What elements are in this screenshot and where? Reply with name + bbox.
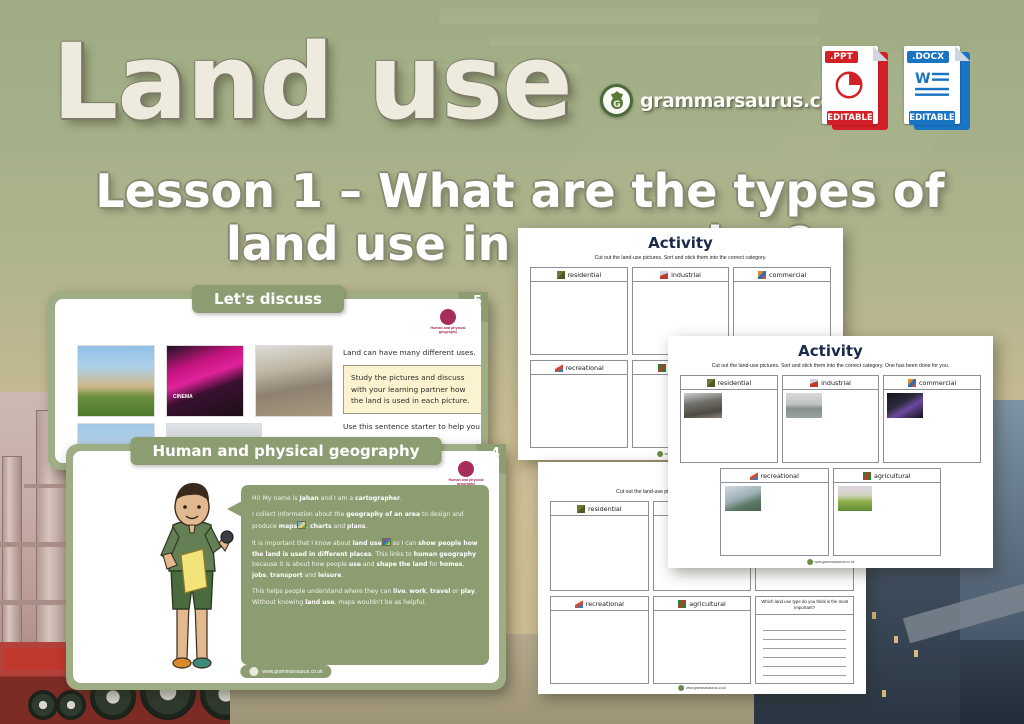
grammarsaurus-dino-icon (249, 667, 258, 676)
industrial-aerial-photo (255, 345, 333, 417)
recreational-icon (555, 364, 563, 372)
commercial-icon (908, 379, 916, 387)
residential-icon (707, 379, 715, 387)
category-box-residential[interactable]: residential (680, 375, 778, 463)
category-label: agricultural (689, 600, 726, 608)
category-box-recreational[interactable]: recreational (530, 360, 628, 448)
category-box-agricultural[interactable]: agricultural (653, 596, 752, 684)
slide-human-physical-geography[interactable]: 4 Human and physical geography (66, 444, 506, 690)
category-label: industrial (821, 379, 851, 387)
category-label: residential (588, 505, 622, 513)
commercial-icon (758, 271, 766, 279)
leisure-centre-photo (725, 486, 761, 511)
grammarsaurus-dino-icon (807, 559, 813, 565)
agricultural-icon (658, 364, 666, 372)
svg-text:G: G (613, 100, 620, 110)
page-title: Land use (52, 30, 572, 134)
unit-badge-label: Human and physical geography (425, 326, 471, 335)
worksheet-front-footer: www.grammarsaurus.co.uk (807, 559, 855, 565)
category-label: industrial (671, 271, 701, 279)
ppt-editable-badge[interactable]: .PPT EDITABLE (822, 46, 888, 130)
green-fields-photo (838, 486, 872, 511)
svg-text:W: W (915, 71, 931, 87)
category-label: agricultural (874, 472, 911, 480)
recreational-icon (575, 600, 583, 608)
recreational-icon (750, 472, 758, 480)
cinema-neon-photo: CINEMA (166, 345, 244, 417)
file-format-badges: .PPT EDITABLE .DOCX W (822, 46, 970, 130)
answer-lines[interactable] (756, 615, 853, 676)
field-track-photo (77, 345, 155, 417)
category-box-industrial[interactable]: industrial (782, 375, 880, 463)
docx-editable-label: EDITABLE (909, 111, 955, 125)
factory-chimney-photo (786, 393, 822, 418)
discussion-photo-strip: CINEMA (77, 345, 333, 417)
ppt-editable-label: EDITABLE (827, 111, 873, 125)
industrial-icon (810, 379, 818, 387)
agricultural-icon (863, 472, 871, 480)
poster-canvas: Land use Lesson 1 – What are the types o… (0, 0, 1024, 724)
land-use-icon (382, 538, 391, 546)
terraced-houses-photo (684, 393, 722, 418)
category-label: recreational (761, 472, 799, 480)
category-label: residential (718, 379, 752, 387)
grammarsaurus-dino-icon (657, 451, 663, 457)
reflection-question-label: Which land use type do you think is the … (756, 597, 853, 615)
word-document-icon: W (913, 69, 951, 101)
map-icon (297, 521, 306, 529)
worksheet-front-title: Activity (668, 342, 993, 360)
worksheet-back-instruction: Cut out the land-use pictures. Sort and … (518, 255, 843, 261)
discussion-text-column: Land can have many different uses. Study… (343, 347, 481, 432)
residential-icon (557, 271, 565, 279)
unit-badge: Human and physical geography (425, 309, 471, 335)
slide-footer: www.grammarsaurus.co.uk (240, 665, 331, 678)
ppt-extension-label: .PPT (825, 51, 858, 63)
grammarsaurus-dino-icon: G (600, 84, 633, 117)
docx-extension-label: .DOCX (907, 51, 949, 63)
shopping-centre-photo (887, 393, 923, 418)
category-box-commercial[interactable]: commercial (883, 375, 981, 463)
residential-icon (577, 505, 585, 513)
category-label: commercial (769, 271, 806, 279)
category-box-agricultural[interactable]: agricultural (833, 468, 942, 556)
speech-paragraph-2: I collect information about the geograph… (252, 510, 478, 532)
discussion-sentence-starter: Use this sentence starter to help you: (343, 421, 481, 432)
worksheet-front-instruction: Cut out the land-use pictures. Sort and … (668, 363, 993, 369)
unit-badge: Human and physical geography (443, 461, 489, 487)
grammarsaurus-dino-icon (678, 685, 684, 691)
reflection-question-box[interactable]: Which land use type do you think is the … (755, 596, 854, 684)
speech-paragraph-4: This helps people understand where they … (252, 587, 478, 608)
cartographer-speech-bubble: Hi! My name is Jahan and I am a cartogra… (241, 485, 489, 665)
worksheet-front[interactable]: Activity Cut out the land-use pictures. … (668, 336, 993, 568)
discussion-intro: Land can have many different uses. (343, 347, 481, 358)
slide-title: Let's discuss (192, 285, 344, 313)
slide-title: Human and physical geography (131, 437, 442, 465)
category-box-recreational[interactable]: recreational (550, 596, 649, 684)
worksheet-middle-footer: www.grammarsaurus.co.uk (678, 685, 726, 691)
speech-paragraph-1: Hi! My name is Jahan and I am a cartogra… (252, 494, 478, 504)
agricultural-icon (678, 600, 686, 608)
industrial-icon (660, 271, 668, 279)
category-label: commercial (919, 379, 956, 387)
cartographer-boy-illustration (145, 477, 237, 673)
pie-chart-icon (831, 69, 869, 101)
discussion-callout: Study the pictures and discuss with your… (343, 365, 481, 413)
category-label: recreational (586, 600, 624, 608)
category-box-residential[interactable]: residential (550, 501, 649, 591)
category-label: recreational (566, 364, 604, 372)
docx-editable-badge[interactable]: .DOCX W EDITABLE (904, 46, 970, 130)
speech-paragraph-3: It is important that I know about land u… (252, 538, 478, 581)
category-box-recreational[interactable]: recreational (720, 468, 829, 556)
category-box-residential[interactable]: residential (530, 267, 628, 355)
category-label: residential (568, 271, 602, 279)
worksheet-back-title: Activity (518, 234, 843, 252)
